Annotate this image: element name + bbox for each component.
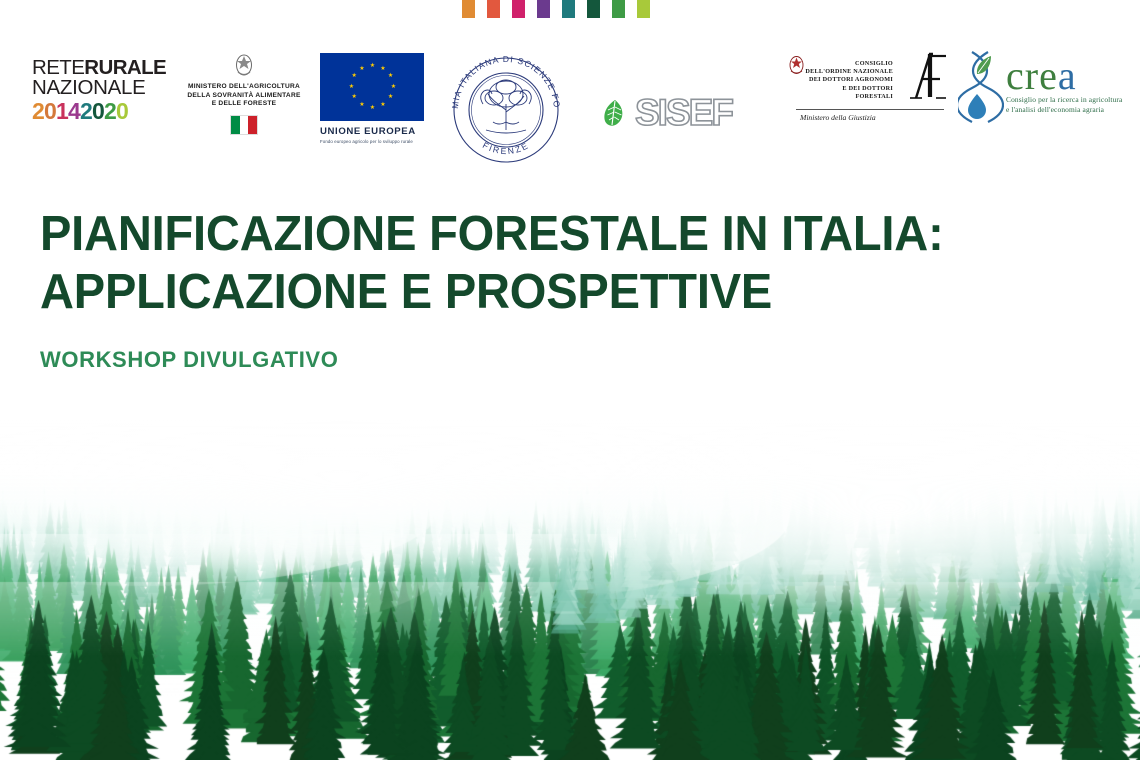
rrn-years: 20142020 bbox=[32, 99, 192, 123]
eu-star-9: ★ bbox=[352, 95, 357, 100]
italian-flag-icon bbox=[230, 115, 258, 135]
rrn-digit-6: 0 bbox=[92, 98, 104, 124]
af-monogram-icon bbox=[896, 48, 948, 104]
eu-flag-icon: ★★★★★★★★★★★★ bbox=[320, 53, 424, 121]
ministero-line2: DELLA SOVRANITÀ ALIMENTARE bbox=[178, 92, 310, 101]
ministero-line3: E DELLE FORESTE bbox=[178, 100, 310, 109]
color-bar-5 bbox=[562, 0, 575, 18]
eu-star-5: ★ bbox=[388, 95, 393, 100]
logo-rete-rurale-nazionale: RETERURALE NAZIONALE 20142020 bbox=[32, 58, 192, 123]
crea-letter-3: e bbox=[1039, 53, 1058, 98]
leaf-icon bbox=[600, 98, 630, 128]
rrn-line2: NAZIONALE bbox=[32, 77, 192, 98]
conaf-line3: DEI DOTTORI AGRONOMI bbox=[805, 76, 893, 84]
color-bar-3 bbox=[512, 0, 525, 18]
color-bar-2 bbox=[487, 0, 500, 18]
poster-page: RETERURALE NAZIONALE 20142020 MINISTERO … bbox=[0, 0, 1140, 760]
rrn-digit-1: 2 bbox=[32, 98, 44, 124]
conaf-line2: DELL'ORDINE NAZIONALE bbox=[805, 68, 893, 76]
crea-sub2: e l'analisi dell'economia agraria bbox=[1006, 105, 1122, 115]
crea-letter-4: a bbox=[1058, 53, 1077, 98]
logo-crea: crea Consiglio per la ricerca in agricol… bbox=[958, 48, 1123, 124]
rrn-digit-7: 2 bbox=[104, 98, 116, 124]
crea-wordmark: crea bbox=[1006, 57, 1122, 95]
logo-unione-europea: ★★★★★★★★★★★★ UNIONE EUROPEA Fondo europe… bbox=[320, 53, 424, 144]
crea-sub1: Consiglio per la ricerca in agricoltura bbox=[1006, 95, 1122, 105]
headline-block: PIANIFICAZIONE FORESTALE IN ITALIA: APPL… bbox=[40, 205, 1080, 373]
color-bar-1 bbox=[462, 0, 475, 18]
eu-star-8: ★ bbox=[359, 103, 364, 108]
logo-conaf: CONSIGLIO DELL'ORDINE NAZIONALE DEI DOTT… bbox=[788, 48, 948, 122]
hero-forest-canvas bbox=[0, 420, 1140, 760]
eu-star-1: ★ bbox=[370, 64, 375, 69]
sisef-wordmark: SISEF bbox=[635, 92, 732, 134]
conaf-divider bbox=[796, 109, 944, 110]
conaf-footer: Ministero della Giustizia bbox=[788, 113, 948, 122]
crea-letter-2: r bbox=[1025, 53, 1039, 98]
logo-ministero-agricoltura: MINISTERO DELL'AGRICOLTURA DELLA SOVRANI… bbox=[178, 52, 310, 135]
eu-star-6: ★ bbox=[380, 103, 385, 108]
eu-star-11: ★ bbox=[352, 74, 357, 79]
eu-star-7: ★ bbox=[370, 106, 375, 111]
emblema-repubblica-icon bbox=[234, 52, 254, 78]
page-title: PIANIFICAZIONE FORESTALE IN ITALIA: APPL… bbox=[40, 205, 1038, 321]
conaf-line1: CONSIGLIO bbox=[805, 60, 893, 68]
logo-sisef: SISEF bbox=[600, 92, 760, 134]
rrn-line1: RETERURALE bbox=[32, 58, 192, 77]
emblema-repubblica-conaf-icon bbox=[788, 54, 805, 76]
svg-text:FIRENZE: FIRENZE bbox=[481, 140, 531, 156]
eu-star-10: ★ bbox=[349, 85, 354, 90]
eu-caption: UNIONE EUROPEA bbox=[320, 126, 424, 137]
conaf-text: CONSIGLIO DELL'ORDINE NAZIONALE DEI DOTT… bbox=[805, 48, 896, 101]
eu-star-12: ★ bbox=[359, 67, 364, 72]
rrn-digit-5: 2 bbox=[80, 98, 92, 124]
page-subtitle: WORKSHOP DIVULGATIVO bbox=[40, 347, 1080, 373]
color-bar-7 bbox=[612, 0, 625, 18]
eu-star-4: ★ bbox=[391, 85, 396, 90]
rrn-digit-2: 0 bbox=[44, 98, 56, 124]
logo-accademia-italiana-scienze-forestali: ACCADEMIA ITALIANA DI SCIENZE FORESTALI … bbox=[436, 38, 576, 170]
rrn-digit-4: 4 bbox=[68, 98, 80, 124]
rrn-digit-8: 0 bbox=[116, 98, 128, 124]
conaf-line4: E DEI DOTTORI FORESTALI bbox=[805, 85, 893, 101]
color-bar-4 bbox=[537, 0, 550, 18]
rrn-digit-3: 1 bbox=[56, 98, 68, 124]
title-line-1: PIANIFICAZIONE FORESTALE IN ITALIA: bbox=[40, 205, 1038, 263]
eu-star-3: ★ bbox=[388, 74, 393, 79]
sponsor-logo-strip: RETERURALE NAZIONALE 20142020 MINISTERO … bbox=[0, 40, 1140, 160]
title-line-2: APPLICAZIONE E PROSPETTIVE bbox=[40, 263, 1038, 321]
color-bar-6 bbox=[587, 0, 600, 18]
eu-star-2: ★ bbox=[380, 67, 385, 72]
crea-letter-1: c bbox=[1006, 53, 1025, 98]
ministero-line1: MINISTERO DELL'AGRICOLTURA bbox=[178, 83, 310, 92]
helix-leaf-drop-icon bbox=[958, 48, 1004, 124]
color-bar-8 bbox=[637, 0, 650, 18]
eu-subcaption: Fondo europeo agricolo per lo sviluppo r… bbox=[320, 139, 424, 144]
hero-forest-image bbox=[0, 420, 1140, 760]
top-color-bars bbox=[462, 0, 650, 18]
